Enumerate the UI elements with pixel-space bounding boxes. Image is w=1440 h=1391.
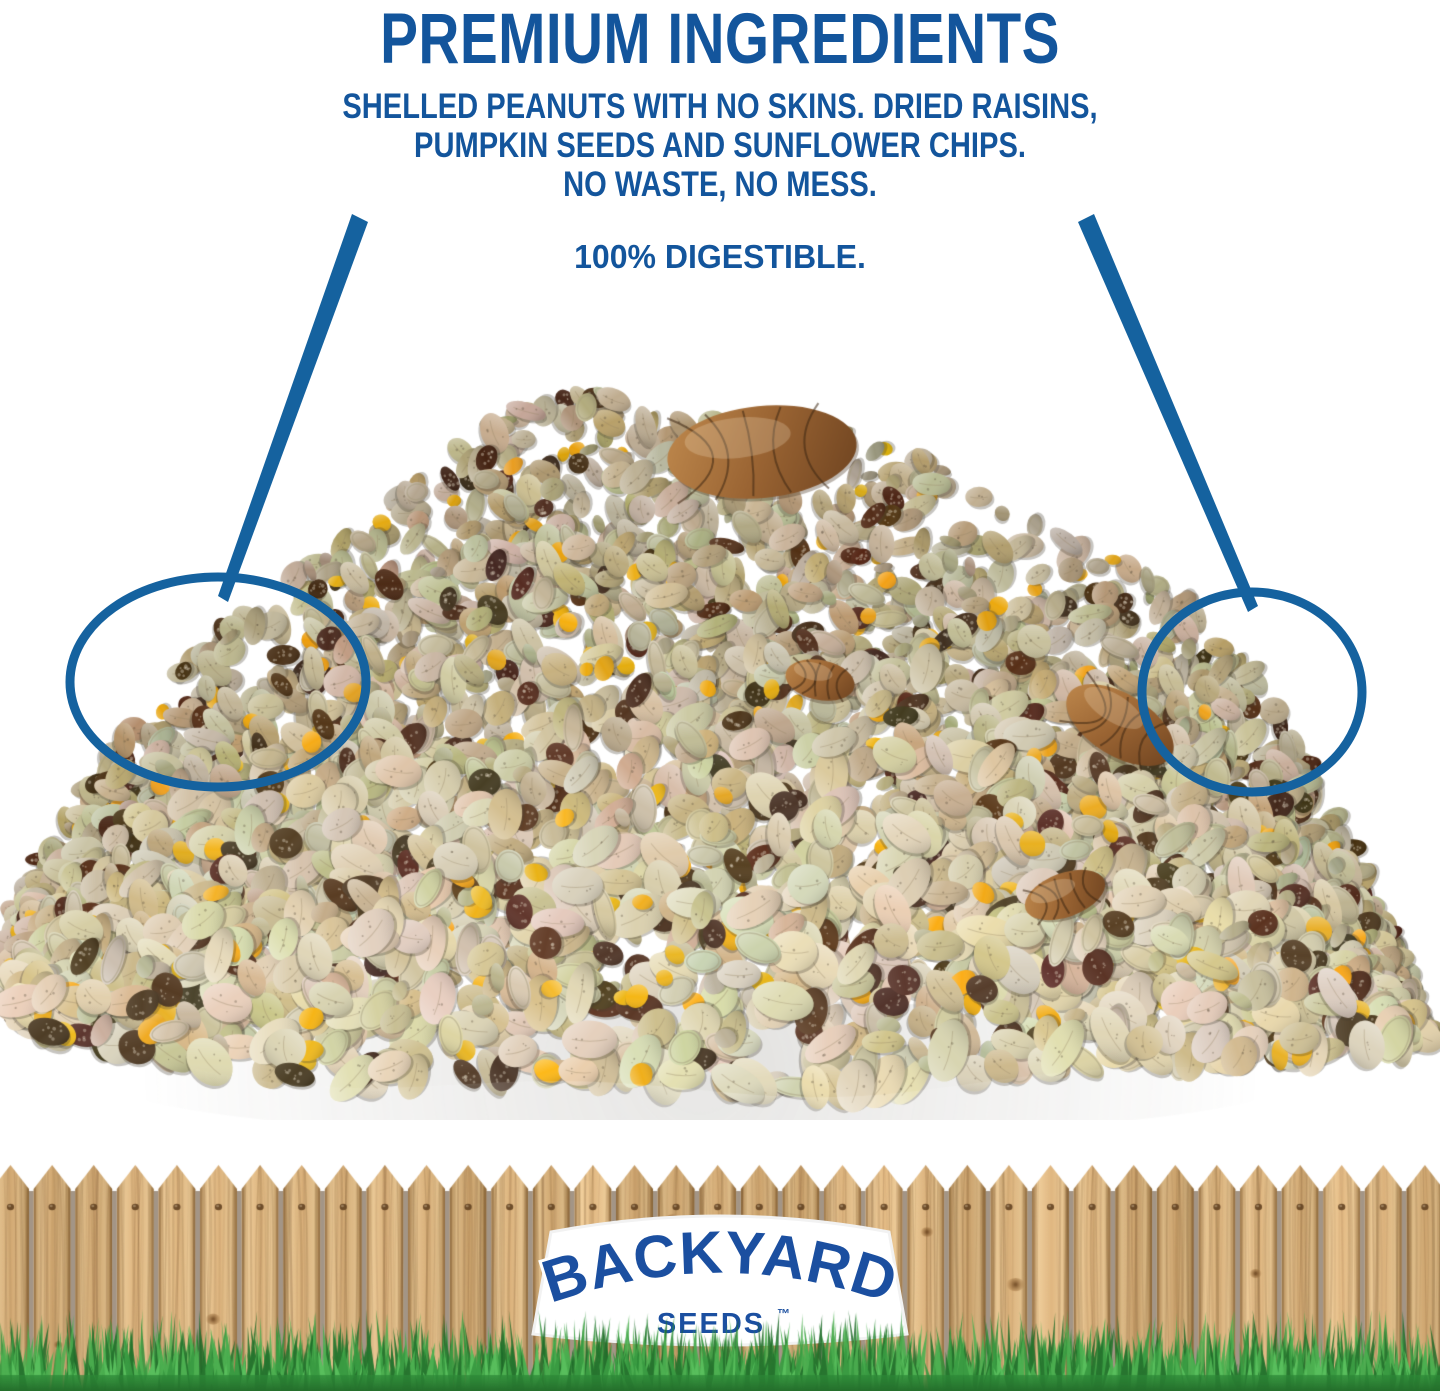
seed-mix-photo — [0, 380, 1440, 1120]
description-line-3: NO WASTE, NO MESS. — [130, 165, 1311, 204]
ingredient-description: SHELLED PEANUTS WITH NO SKINS. DRIED RAI… — [0, 87, 1440, 204]
page-title: PREMIUM INGREDIENTS — [144, 0, 1296, 77]
description-line-1: SHELLED PEANUTS WITH NO SKINS. DRIED RAI… — [130, 87, 1311, 126]
description-line-2: PUMPKIN SEEDS AND SUNFLOWER CHIPS. — [130, 126, 1311, 165]
seed-pile-canvas — [0, 380, 1440, 1120]
digestible-claim: 100% DIGESTIBLE. — [22, 238, 1419, 276]
grass-foreground — [0, 1299, 1440, 1391]
marketing-copy-block: PREMIUM INGREDIENTS SHELLED PEANUTS WITH… — [0, 0, 1440, 276]
